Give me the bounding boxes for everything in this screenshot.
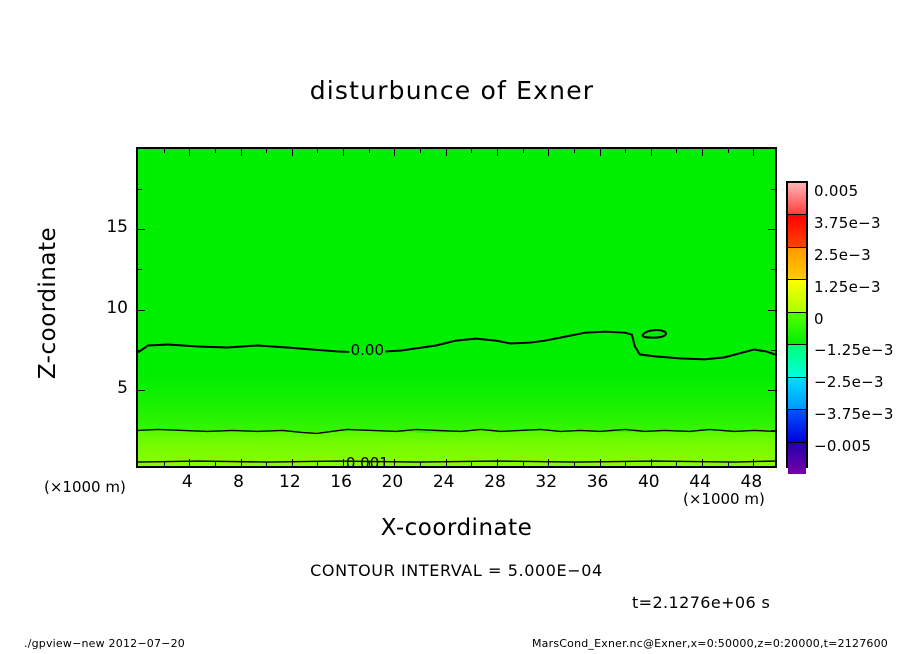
colorbar-band — [788, 377, 806, 409]
y-axis-title: Z-coordinate — [35, 203, 61, 403]
x-tick-label: 24 — [433, 472, 455, 492]
tick-mark — [771, 189, 775, 190]
tick-mark — [215, 462, 216, 466]
tick-mark — [753, 149, 754, 156]
colorbar-band — [788, 344, 806, 376]
tick-mark — [548, 149, 549, 156]
tick-mark — [600, 149, 601, 156]
x-tick-label: 28 — [484, 472, 506, 492]
tick-mark — [771, 269, 775, 270]
colorbar-tick-label: −0.005 — [814, 437, 871, 455]
colorbar-tick-label: −1.25e−3 — [814, 341, 894, 359]
tick-mark — [292, 459, 293, 466]
tick-mark — [600, 459, 601, 466]
tick-mark — [771, 430, 775, 431]
tick-mark — [138, 310, 145, 311]
tick-mark — [138, 189, 142, 190]
colorbar-tick-label: −3.75e−3 — [814, 405, 894, 423]
colorbar-band — [788, 279, 806, 311]
tick-mark — [728, 462, 729, 466]
tick-mark — [138, 390, 145, 391]
footer-command: ./gpview−new 2012−07−20 — [24, 637, 185, 650]
tick-mark — [702, 149, 703, 156]
tick-mark — [497, 459, 498, 466]
x-axis-title: X-coordinate — [136, 515, 777, 541]
tick-mark — [446, 149, 447, 156]
colorbar-band — [788, 247, 806, 279]
tick-mark — [189, 149, 190, 156]
x-tick-label: 32 — [535, 472, 557, 492]
tick-mark — [394, 149, 395, 156]
colorbar-tick-label: 0 — [814, 310, 824, 328]
tick-mark — [676, 462, 677, 466]
tick-mark — [266, 149, 267, 153]
colorbar-band — [788, 409, 806, 441]
tick-mark — [523, 149, 524, 153]
tick-mark — [625, 149, 626, 153]
colorbar[interactable] — [786, 181, 808, 468]
colorbar-tick-label: 2.5e−3 — [814, 246, 871, 264]
tick-mark — [164, 462, 165, 466]
contour-plot-area[interactable]: 0.00 0.001 — [136, 147, 777, 468]
tick-mark — [138, 350, 142, 351]
colorbar-tick-label: 0.005 — [814, 182, 858, 200]
x-tick-label: 4 — [182, 472, 193, 492]
tick-mark — [369, 149, 370, 153]
colorbar-tick-label: −2.5e−3 — [814, 373, 884, 391]
x-tick-label: 44 — [689, 472, 711, 492]
tick-mark — [369, 462, 370, 466]
tick-mark — [138, 269, 142, 270]
tick-mark — [138, 229, 145, 230]
colorbar-band — [788, 442, 806, 474]
x-tick-label: 16 — [330, 472, 352, 492]
x-tick-label: 20 — [382, 472, 404, 492]
x-tick-label: 36 — [587, 472, 609, 492]
tick-mark — [574, 149, 575, 153]
colorbar-labels: 0.0053.75e−32.5e−31.25e−30−1.25e−3−2.5e−… — [814, 181, 904, 468]
colorbar-band — [788, 183, 806, 214]
tick-mark — [292, 149, 293, 156]
colorbar-band — [788, 312, 806, 344]
x-axis-units: (×1000 m) — [683, 490, 765, 508]
y-tick-label: 10 — [106, 298, 128, 318]
tick-mark — [523, 462, 524, 466]
axis-ticks — [138, 149, 775, 466]
tick-mark — [768, 229, 775, 230]
x-tick-label: 8 — [233, 472, 244, 492]
tick-mark — [651, 459, 652, 466]
colorbar-tick-label: 3.75e−3 — [814, 214, 881, 232]
y-tick-label: 5 — [117, 378, 128, 398]
tick-mark — [771, 350, 775, 351]
tick-mark — [574, 462, 575, 466]
x-tick-label: 40 — [638, 472, 660, 492]
footer-source: MarsCond_Exner.nc@Exner,x=0:50000,z=0:20… — [532, 637, 888, 650]
x-tick-label: 48 — [741, 472, 763, 492]
x-tick-label: 12 — [279, 472, 301, 492]
colorbar-band — [788, 214, 806, 246]
y-axis-units: (×1000 m) — [44, 478, 126, 496]
y-axis-tick-labels: 51015 — [78, 147, 128, 468]
tick-mark — [753, 459, 754, 466]
tick-mark — [446, 459, 447, 466]
tick-mark — [266, 462, 267, 466]
tick-mark — [471, 149, 472, 153]
tick-mark — [189, 459, 190, 466]
tick-mark — [768, 390, 775, 391]
tick-mark — [625, 462, 626, 466]
tick-mark — [343, 459, 344, 466]
page-title: disturbunce of Exner — [0, 76, 904, 105]
tick-mark — [768, 310, 775, 311]
colorbar-tick-label: 1.25e−3 — [814, 278, 881, 296]
tick-mark — [497, 149, 498, 156]
tick-mark — [702, 459, 703, 466]
tick-mark — [651, 149, 652, 156]
tick-mark — [420, 462, 421, 466]
tick-mark — [164, 149, 165, 153]
tick-mark — [728, 149, 729, 153]
tick-mark — [676, 149, 677, 153]
tick-mark — [241, 459, 242, 466]
tick-mark — [343, 149, 344, 156]
tick-mark — [215, 149, 216, 153]
y-tick-label: 15 — [106, 217, 128, 237]
tick-mark — [241, 149, 242, 156]
time-stamp-note: t=2.1276e+06 s — [632, 593, 770, 612]
tick-mark — [548, 459, 549, 466]
tick-mark — [394, 459, 395, 466]
tick-mark — [420, 149, 421, 153]
tick-mark — [471, 462, 472, 466]
contour-interval-note: CONTOUR INTERVAL = 5.000E−04 — [136, 561, 777, 580]
tick-mark — [317, 462, 318, 466]
tick-mark — [317, 149, 318, 153]
tick-mark — [138, 430, 142, 431]
